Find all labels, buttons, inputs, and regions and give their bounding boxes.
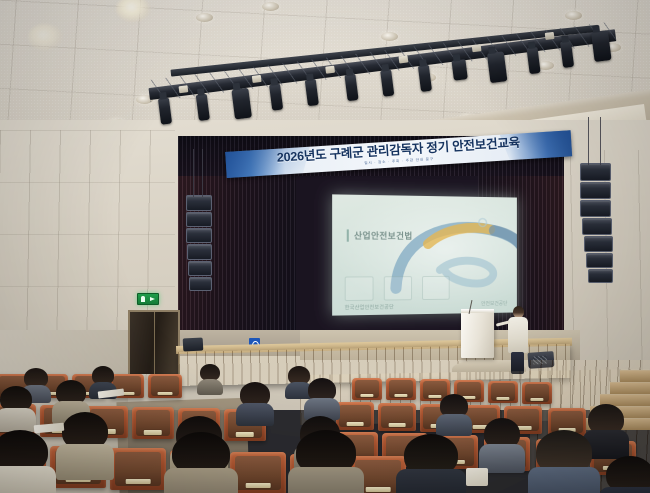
stage-light-icon: [231, 88, 252, 120]
speaker-module: [580, 200, 611, 217]
downlight-icon: [196, 13, 213, 22]
slide-icon-worker: [345, 276, 374, 301]
stage-light-icon: [196, 94, 210, 121]
projection-screen: 산업안전보건법 한국산업안전보건공단 안전보건공단: [332, 194, 517, 315]
seat[interactable]: [488, 381, 518, 403]
truss-lamp-icon: [325, 66, 335, 74]
audience-member: [308, 378, 336, 416]
downlight-icon: [262, 2, 279, 11]
presenter-coat: [508, 317, 528, 353]
stage-light-icon: [344, 74, 358, 101]
lectern: [461, 312, 494, 358]
auditorium-photo: 산업안전보건법 한국산업안전보건공단 안전보건공단 2026년도 구례군 관리감…: [0, 0, 650, 493]
ceiling-glow-light-icon: [28, 24, 62, 50]
stage-light-icon: [380, 70, 394, 97]
speaker-module: [187, 244, 212, 260]
downlight-icon: [381, 32, 398, 41]
truss-lamp-icon: [545, 32, 555, 40]
stage-light-icon: [487, 51, 508, 83]
seat[interactable]: [336, 402, 374, 430]
audience-member: [484, 418, 520, 468]
speaker-module: [580, 163, 611, 181]
audience-member: [62, 412, 108, 474]
audience-member: [440, 394, 468, 432]
slide-icon-desk: [422, 276, 450, 300]
seat[interactable]: [132, 407, 174, 439]
speaker-module: [186, 212, 212, 227]
stage-light-icon: [591, 30, 612, 62]
truss-lamp-icon: [179, 85, 189, 93]
stage-light-icon: [451, 59, 467, 81]
seat[interactable]: [110, 448, 166, 490]
truss-lamp-icon: [472, 44, 482, 52]
speaker-suspension-wire: [193, 149, 194, 197]
slide-icon-machine: [384, 276, 412, 300]
slide-footer-label: 한국산업안전보건공단: [345, 303, 394, 311]
speaker-module: [189, 277, 212, 291]
speaker-module: [586, 253, 613, 268]
stage-light-icon: [305, 79, 319, 106]
speaker-suspension-wire: [588, 117, 589, 165]
speaker-suspension-wire: [600, 117, 601, 165]
truss-lamp-icon: [399, 55, 409, 63]
presenter: [505, 306, 531, 374]
audience-member: [588, 404, 624, 454]
speaker-module: [186, 195, 212, 211]
audience-member: [296, 430, 356, 493]
seat[interactable]: [378, 403, 416, 431]
seat[interactable]: [230, 452, 286, 493]
speaker-suspension-wire: [202, 149, 203, 197]
handout-paper: [466, 468, 488, 486]
seat[interactable]: [386, 378, 416, 400]
slide-corner-label: 안전보건공단: [481, 300, 507, 307]
stage-light-icon: [418, 65, 432, 92]
seat[interactable]: [352, 378, 382, 400]
speaker-module: [582, 218, 612, 235]
speaker-module: [584, 236, 613, 252]
audience-member: [172, 432, 230, 493]
audience-member: [404, 434, 458, 493]
audience-member: [288, 366, 310, 396]
stage-light-icon: [158, 98, 172, 125]
seat[interactable]: [522, 382, 552, 404]
audience-member: [240, 382, 270, 422]
line-array-speaker-right: [580, 163, 609, 284]
stage-light-icon: [269, 84, 283, 111]
slide-illustration-row: [345, 276, 450, 301]
floor-monitor-speaker: [183, 337, 204, 351]
truss-lamp-icon: [252, 75, 262, 83]
speaker-module: [588, 269, 613, 283]
line-array-speaker-left: [186, 195, 210, 292]
audience-member: [0, 386, 32, 428]
audience-member: [536, 430, 592, 493]
speaker-module: [186, 228, 212, 243]
seat[interactable]: [148, 374, 182, 398]
speaker-module: [188, 261, 212, 276]
audience-member: [200, 364, 220, 392]
audience-member: [606, 456, 650, 493]
speaker-module: [580, 182, 611, 199]
audience-seating-area: [0, 372, 650, 493]
audience-member: [0, 430, 48, 493]
emergency-exit-sign-icon: [137, 293, 159, 305]
side-exit-door[interactable]: [128, 310, 180, 374]
